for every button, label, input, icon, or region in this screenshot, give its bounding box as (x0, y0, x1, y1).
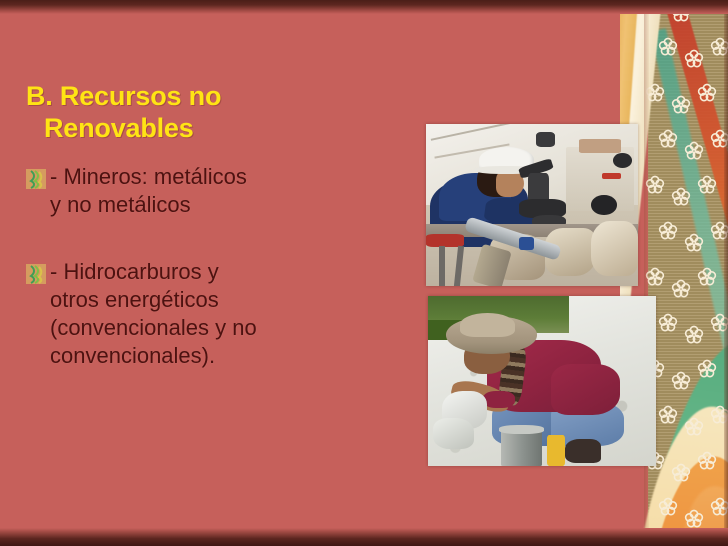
decorative-swirl-bullet-icon (26, 169, 46, 189)
slide-title-line1: B. Recursos no (26, 81, 221, 111)
mineral-lab-photo (426, 124, 638, 286)
list-item-label: - Hidrocarburos y otros energéticos (con… (26, 258, 406, 369)
border-right-edge (724, 0, 728, 546)
decorative-swirl-bullet-icon (26, 264, 46, 284)
bullet-list: - Mineros: metálicos y no metálicos - Hi… (26, 163, 406, 369)
list-item: - Hidrocarburos y otros energéticos (con… (26, 258, 406, 369)
list-item-label: - Mineros: metálicos y no metálicos (26, 163, 406, 218)
field-worker-photo (428, 296, 656, 466)
presentation-slide: B. Recursos no Renovables - Mineros: met… (0, 0, 728, 546)
bottom-edge-band (0, 528, 728, 546)
slide-title-line2: Renovables (26, 112, 386, 144)
top-edge-band (0, 0, 728, 14)
slide-title: B. Recursos no Renovables (26, 80, 386, 145)
list-item: - Mineros: metálicos y no metálicos (26, 163, 406, 218)
